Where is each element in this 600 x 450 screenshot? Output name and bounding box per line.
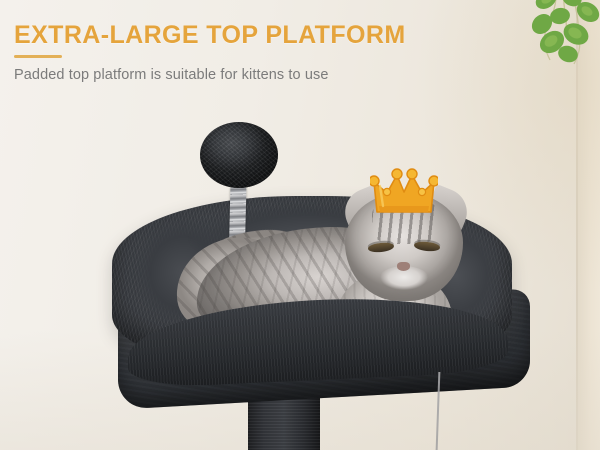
cat-nose xyxy=(397,262,410,271)
product-banner: EXTRA-LARGE TOP PLATFORM Padded top plat… xyxy=(0,0,600,450)
banner-header: EXTRA-LARGE TOP PLATFORM Padded top plat… xyxy=(14,22,484,83)
title-accent-bar xyxy=(14,55,62,58)
page-title: EXTRA-LARGE TOP PLATFORM xyxy=(14,22,484,48)
page-subtitle: Padded top platform is suitable for kitt… xyxy=(14,67,484,83)
crown-icon xyxy=(370,166,438,222)
